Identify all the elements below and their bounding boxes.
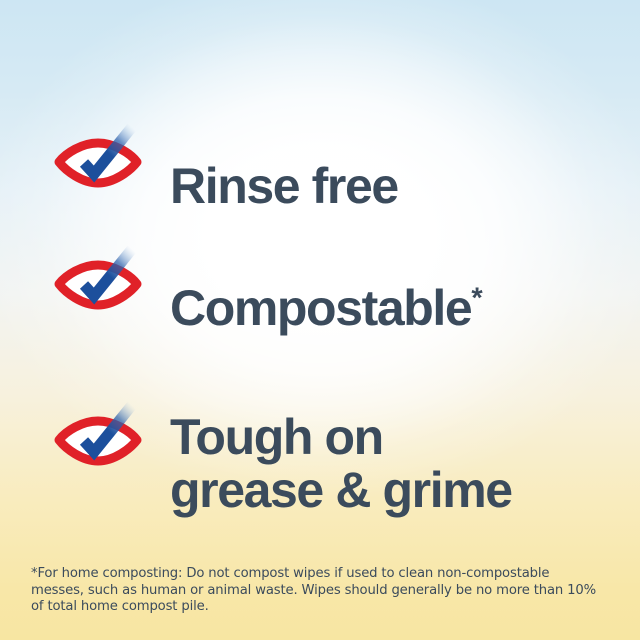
check-icon bbox=[52, 399, 144, 477]
feature-label-text: Compostable bbox=[170, 280, 471, 336]
feature-row: Tough on grease & grime bbox=[52, 358, 512, 517]
feature-label-text: Tough on grease & grime bbox=[170, 409, 512, 518]
feature-row: Rinse free bbox=[52, 108, 398, 212]
check-icon bbox=[52, 243, 144, 321]
check-icon bbox=[52, 121, 144, 199]
feature-label: Rinse free bbox=[170, 108, 398, 212]
product-feature-poster: Rinse free Compostable* bbox=[0, 0, 640, 640]
feature-label-text: Rinse free bbox=[170, 158, 398, 214]
feature-list: Rinse free Compostable* bbox=[0, 0, 640, 540]
footnote-asterisk-marker: * bbox=[471, 282, 482, 314]
feature-label: Compostable* bbox=[170, 230, 483, 334]
footnote-disclaimer: *For home composting: Do not compost wip… bbox=[31, 566, 597, 616]
feature-label: Tough on grease & grime bbox=[170, 358, 512, 517]
feature-row: Compostable* bbox=[52, 230, 483, 334]
